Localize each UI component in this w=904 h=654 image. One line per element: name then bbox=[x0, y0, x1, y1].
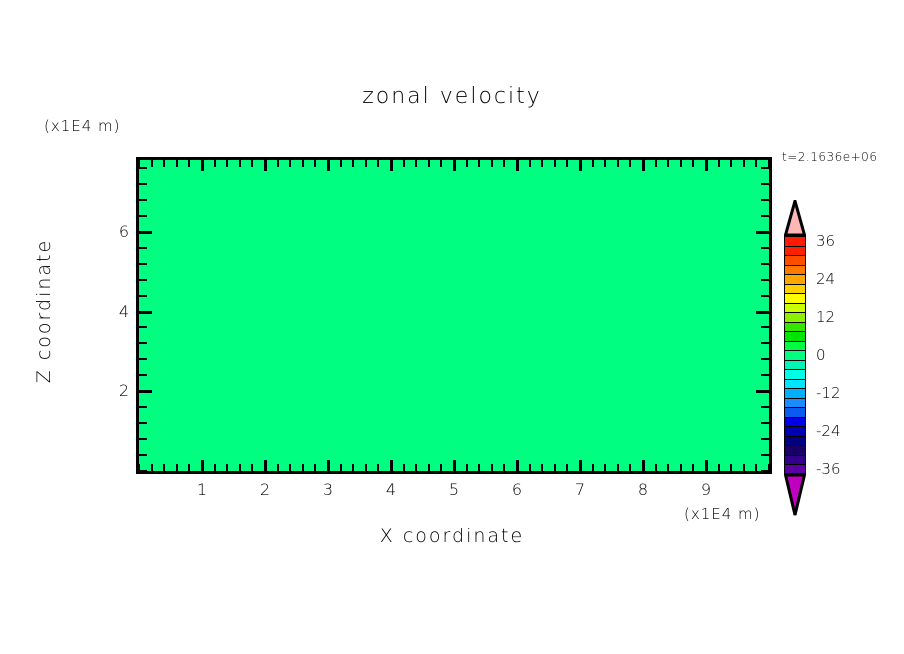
y-axis-minor-tick bbox=[139, 279, 147, 281]
x-axis-top-tick bbox=[705, 160, 708, 171]
x-axis-minor-tick bbox=[554, 464, 556, 471]
x-axis-tick-label: 8 bbox=[628, 480, 658, 499]
colorbar-band bbox=[784, 322, 806, 332]
time-annotation: t=2.1636e+06 bbox=[782, 150, 877, 164]
colorbar-band bbox=[784, 398, 806, 408]
y-axis-major-tick bbox=[139, 231, 152, 234]
colorbar-tick-label: -24 bbox=[816, 422, 841, 440]
x-axis-major-tick bbox=[201, 460, 204, 471]
y-axis-right-tick bbox=[761, 454, 769, 456]
y-axis-minor-tick bbox=[139, 438, 147, 440]
y-axis-minor-tick bbox=[139, 199, 147, 201]
y-axis-minor-tick bbox=[139, 470, 147, 472]
colorbar-tick-label: 12 bbox=[816, 308, 835, 326]
y-axis-right-tick bbox=[761, 215, 769, 217]
colorbar-under-arrow bbox=[784, 474, 806, 516]
x-axis-top-tick bbox=[667, 160, 669, 167]
x-axis-top-tick bbox=[692, 160, 694, 167]
velocity-field-canvas bbox=[139, 160, 769, 471]
x-axis-minor-tick bbox=[491, 464, 493, 471]
colorbar-band bbox=[784, 350, 806, 360]
x-axis-top-tick bbox=[214, 160, 216, 167]
y-axis-minor-tick bbox=[139, 454, 147, 456]
x-axis-major-tick bbox=[264, 460, 267, 471]
x-axis-top-tick bbox=[176, 160, 178, 167]
x-axis-top-tick bbox=[554, 160, 556, 167]
x-axis-minor-tick bbox=[617, 464, 619, 471]
x-axis-top-tick bbox=[629, 160, 631, 167]
x-axis-top-tick bbox=[566, 160, 568, 167]
x-axis-top-tick bbox=[529, 160, 531, 167]
x-axis-top-tick bbox=[151, 160, 153, 167]
x-axis-tick-label: 4 bbox=[376, 480, 406, 499]
x-axis-top-tick bbox=[541, 160, 543, 167]
x-axis-top-tick bbox=[251, 160, 253, 167]
x-axis-top-tick bbox=[277, 160, 279, 167]
y-axis-minor-tick bbox=[139, 215, 147, 217]
x-axis-top-tick bbox=[642, 160, 645, 171]
x-axis-tick-label: 3 bbox=[313, 480, 343, 499]
x-axis-minor-tick bbox=[692, 464, 694, 471]
x-axis-minor-tick bbox=[680, 464, 682, 471]
y-axis-right-tick bbox=[761, 438, 769, 440]
x-axis-minor-tick bbox=[251, 464, 253, 471]
page-title: zonal velocity bbox=[0, 84, 904, 109]
x-axis-top-tick bbox=[453, 160, 456, 171]
colorbar-band bbox=[784, 274, 806, 284]
colorbar-band bbox=[784, 312, 806, 322]
x-axis-minor-tick bbox=[352, 464, 354, 471]
x-axis-top-tick bbox=[365, 160, 367, 167]
x-axis-top-tick bbox=[390, 160, 393, 171]
x-axis-top-tick bbox=[163, 160, 165, 167]
x-axis-top-tick bbox=[289, 160, 291, 167]
x-axis-minor-tick bbox=[289, 464, 291, 471]
x-axis-top-tick bbox=[428, 160, 430, 167]
x-axis-major-tick bbox=[642, 460, 645, 471]
y-axis-major-tick bbox=[139, 311, 152, 314]
y-axis-minor-tick bbox=[139, 247, 147, 249]
x-axis-minor-tick bbox=[365, 464, 367, 471]
y-axis-right-tick bbox=[761, 279, 769, 281]
y-axis-minor-tick bbox=[139, 167, 147, 169]
x-axis-top-tick bbox=[680, 160, 682, 167]
y-axis-right-tick bbox=[756, 231, 769, 234]
y-axis-right-tick bbox=[761, 199, 769, 201]
y-axis-right-tick bbox=[761, 183, 769, 185]
y-axis-tick-label: 4 bbox=[103, 302, 129, 321]
x-axis-tick-label: 7 bbox=[565, 480, 595, 499]
x-axis-top-tick bbox=[478, 160, 480, 167]
x-axis-minor-tick bbox=[302, 464, 304, 471]
x-axis-minor-tick bbox=[340, 464, 342, 471]
y-axis-minor-tick bbox=[139, 263, 147, 265]
x-axis-top-tick bbox=[138, 160, 140, 167]
x-axis-top-tick bbox=[327, 160, 330, 171]
x-axis-top-tick bbox=[264, 160, 267, 171]
x-axis-minor-tick bbox=[239, 464, 241, 471]
x-axis-minor-tick bbox=[743, 464, 745, 471]
x-axis-top-tick bbox=[718, 160, 720, 167]
y-axis-title: Z coordinate bbox=[33, 201, 55, 421]
colorbar-bands bbox=[784, 236, 806, 474]
y-axis-tick-label: 2 bbox=[103, 381, 129, 400]
x-axis-minor-tick bbox=[478, 464, 480, 471]
x-axis-major-tick bbox=[327, 460, 330, 471]
x-axis-minor-tick bbox=[503, 464, 505, 471]
colorbar-tick-label: -36 bbox=[816, 460, 841, 478]
x-axis-minor-tick bbox=[440, 464, 442, 471]
colorbar-tick-label: 36 bbox=[816, 232, 835, 250]
x-axis-top-tick bbox=[743, 160, 745, 167]
x-axis-minor-tick bbox=[314, 464, 316, 471]
y-axis-right-tick bbox=[761, 470, 769, 472]
colorbar-band bbox=[784, 236, 806, 246]
x-axis-top-tick bbox=[768, 160, 770, 167]
x-axis-top-tick bbox=[352, 160, 354, 167]
y-axis-right-tick bbox=[761, 263, 769, 265]
x-axis-minor-tick bbox=[214, 464, 216, 471]
x-axis-major-tick bbox=[453, 460, 456, 471]
colorbar-band bbox=[784, 246, 806, 256]
over-arrow-svg bbox=[784, 200, 806, 236]
x-axis-tick-label: 1 bbox=[187, 480, 217, 499]
x-axis-top-tick bbox=[730, 160, 732, 167]
colorbar-over-arrow bbox=[784, 200, 806, 236]
x-axis-major-tick bbox=[516, 460, 519, 471]
x-axis-minor-tick bbox=[667, 464, 669, 471]
x-axis-top-tick bbox=[377, 160, 379, 167]
y-axis-right-tick bbox=[761, 342, 769, 344]
y-axis-minor-tick bbox=[139, 358, 147, 360]
contour-plot-area bbox=[136, 157, 772, 474]
x-axis-top-tick bbox=[579, 160, 582, 171]
y-axis-right-tick bbox=[761, 247, 769, 249]
y-axis-right-tick bbox=[761, 422, 769, 424]
colorbar-tick-label: -12 bbox=[816, 384, 841, 402]
x-axis-major-tick bbox=[705, 460, 708, 471]
x-axis-minor-tick bbox=[277, 464, 279, 471]
x-axis-top-tick bbox=[340, 160, 342, 167]
y-axis-minor-tick bbox=[139, 295, 147, 297]
x-axis-minor-tick bbox=[718, 464, 720, 471]
x-axis-minor-tick bbox=[730, 464, 732, 471]
x-axis-minor-tick bbox=[541, 464, 543, 471]
x-axis-minor-tick bbox=[466, 464, 468, 471]
x-axis-minor-tick bbox=[592, 464, 594, 471]
x-axis-minor-tick bbox=[226, 464, 228, 471]
x-axis-minor-tick bbox=[151, 464, 153, 471]
colorbar-band bbox=[784, 255, 806, 265]
x-axis-top-tick bbox=[592, 160, 594, 167]
x-axis-minor-tick bbox=[377, 464, 379, 471]
y-axis-minor-tick bbox=[139, 406, 147, 408]
x-axis-top-tick bbox=[239, 160, 241, 167]
x-axis-top-tick bbox=[188, 160, 190, 167]
y-axis-right-tick bbox=[761, 374, 769, 376]
x-axis-top-tick bbox=[314, 160, 316, 167]
x-axis-minor-tick bbox=[529, 464, 531, 471]
colorbar-tick-label: 0 bbox=[816, 346, 826, 364]
x-axis-top-tick bbox=[491, 160, 493, 167]
x-axis-minor-tick bbox=[428, 464, 430, 471]
colorbar-band bbox=[784, 341, 806, 351]
colorbar-band bbox=[784, 331, 806, 341]
x-axis-unit-label: (x1E4 m) bbox=[684, 505, 761, 523]
x-axis-top-tick bbox=[755, 160, 757, 167]
x-axis-top-tick bbox=[466, 160, 468, 167]
colorbar-band bbox=[784, 407, 806, 417]
colorbar-band bbox=[784, 265, 806, 275]
colorbar-band bbox=[784, 303, 806, 313]
y-axis-unit-label: (x1E4 m) bbox=[44, 117, 121, 135]
colorbar-band bbox=[784, 436, 806, 446]
x-axis-major-tick bbox=[579, 460, 582, 471]
y-axis-minor-tick bbox=[139, 183, 147, 185]
y-axis-right-tick bbox=[761, 295, 769, 297]
x-axis-tick-label: 9 bbox=[691, 480, 721, 499]
colorbar-band bbox=[784, 293, 806, 303]
colorbar-band bbox=[784, 426, 806, 436]
colorbar-tick-label: 24 bbox=[816, 270, 835, 288]
colorbar-band bbox=[784, 388, 806, 398]
x-axis-major-tick bbox=[390, 460, 393, 471]
y-axis-right-tick bbox=[761, 406, 769, 408]
x-axis-top-tick bbox=[655, 160, 657, 167]
y-axis-major-tick bbox=[139, 390, 152, 393]
x-axis-minor-tick bbox=[176, 464, 178, 471]
y-axis-right-tick bbox=[756, 311, 769, 314]
y-axis-minor-tick bbox=[139, 374, 147, 376]
colorbar-band bbox=[784, 284, 806, 294]
x-axis-top-tick bbox=[440, 160, 442, 167]
x-axis-minor-tick bbox=[415, 464, 417, 471]
x-axis-minor-tick bbox=[655, 464, 657, 471]
x-axis-top-tick bbox=[415, 160, 417, 167]
colorbar-band bbox=[784, 455, 806, 465]
colorbar-band bbox=[784, 360, 806, 370]
x-axis-minor-tick bbox=[403, 464, 405, 471]
x-axis-tick-label: 5 bbox=[439, 480, 469, 499]
x-axis-minor-tick bbox=[629, 464, 631, 471]
colorbar-band bbox=[784, 464, 806, 474]
y-axis-minor-tick bbox=[139, 342, 147, 344]
y-axis-minor-tick bbox=[139, 326, 147, 328]
x-axis-top-tick bbox=[516, 160, 519, 171]
x-axis-minor-tick bbox=[188, 464, 190, 471]
y-axis-right-tick bbox=[761, 167, 769, 169]
colorbar-band bbox=[784, 417, 806, 427]
x-axis-minor-tick bbox=[604, 464, 606, 471]
x-axis-title: X coordinate bbox=[0, 525, 904, 547]
y-axis-right-tick bbox=[761, 358, 769, 360]
x-axis-top-tick bbox=[617, 160, 619, 167]
under-arrow-svg bbox=[784, 474, 806, 516]
y-axis-right-tick bbox=[756, 390, 769, 393]
colorbar-band bbox=[784, 369, 806, 379]
x-axis-top-tick bbox=[604, 160, 606, 167]
x-axis-top-tick bbox=[226, 160, 228, 167]
x-axis-tick-label: 2 bbox=[250, 480, 280, 499]
x-axis-minor-tick bbox=[566, 464, 568, 471]
x-axis-minor-tick bbox=[755, 464, 757, 471]
colorbar-band bbox=[784, 379, 806, 389]
y-axis-minor-tick bbox=[139, 422, 147, 424]
x-axis-top-tick bbox=[302, 160, 304, 167]
x-axis-top-tick bbox=[403, 160, 405, 167]
x-axis-top-tick bbox=[503, 160, 505, 167]
y-axis-right-tick bbox=[761, 326, 769, 328]
x-axis-tick-label: 6 bbox=[502, 480, 532, 499]
y-axis-tick-label: 6 bbox=[103, 222, 129, 241]
x-axis-minor-tick bbox=[163, 464, 165, 471]
colorbar-band bbox=[784, 445, 806, 455]
x-axis-top-tick bbox=[201, 160, 204, 171]
